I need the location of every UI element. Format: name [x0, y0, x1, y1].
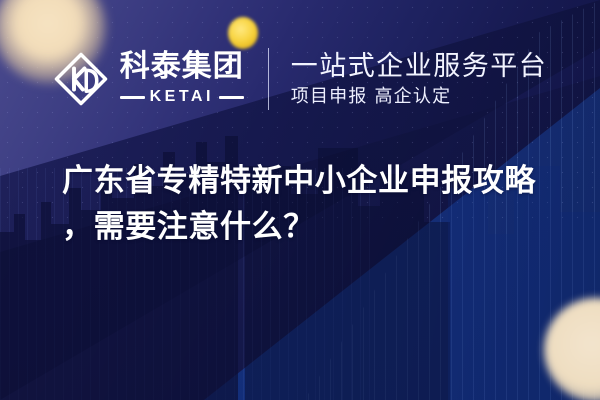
brand-lockup: 科泰集团 KETAI: [53, 51, 244, 107]
brand-text: 科泰集团 KETAI: [120, 52, 244, 106]
header-divider: [268, 48, 269, 110]
tagline-block: 一站式企业服务平台 项目申报 高企认定: [291, 51, 548, 108]
brand-name-en: KETAI: [150, 88, 214, 106]
page-title-line-2: ，需要注意什么？: [62, 204, 562, 250]
page-title: 广东省专精特新中小企业申报攻略 ，需要注意什么？: [62, 158, 562, 250]
promo-banner: 科泰集团 KETAI 一站式企业服务平台 项目申报 高企认定 广东省专精特新中小…: [0, 0, 600, 400]
tagline-main: 一站式企业服务平台: [291, 51, 548, 82]
banner-header: 科泰集团 KETAI 一站式企业服务平台 项目申报 高企认定: [0, 40, 600, 118]
page-title-line-1: 广东省专精特新中小企业申报攻略: [62, 158, 562, 204]
tagline-sub: 项目申报 高企认定: [291, 87, 548, 108]
brand-name-en-row: KETAI: [120, 88, 244, 106]
brand-name-cn: 科泰集团: [120, 52, 244, 82]
ketai-logo-icon: [53, 51, 109, 107]
brand-rule-left: [120, 96, 145, 99]
brand-rule-right: [219, 96, 244, 99]
